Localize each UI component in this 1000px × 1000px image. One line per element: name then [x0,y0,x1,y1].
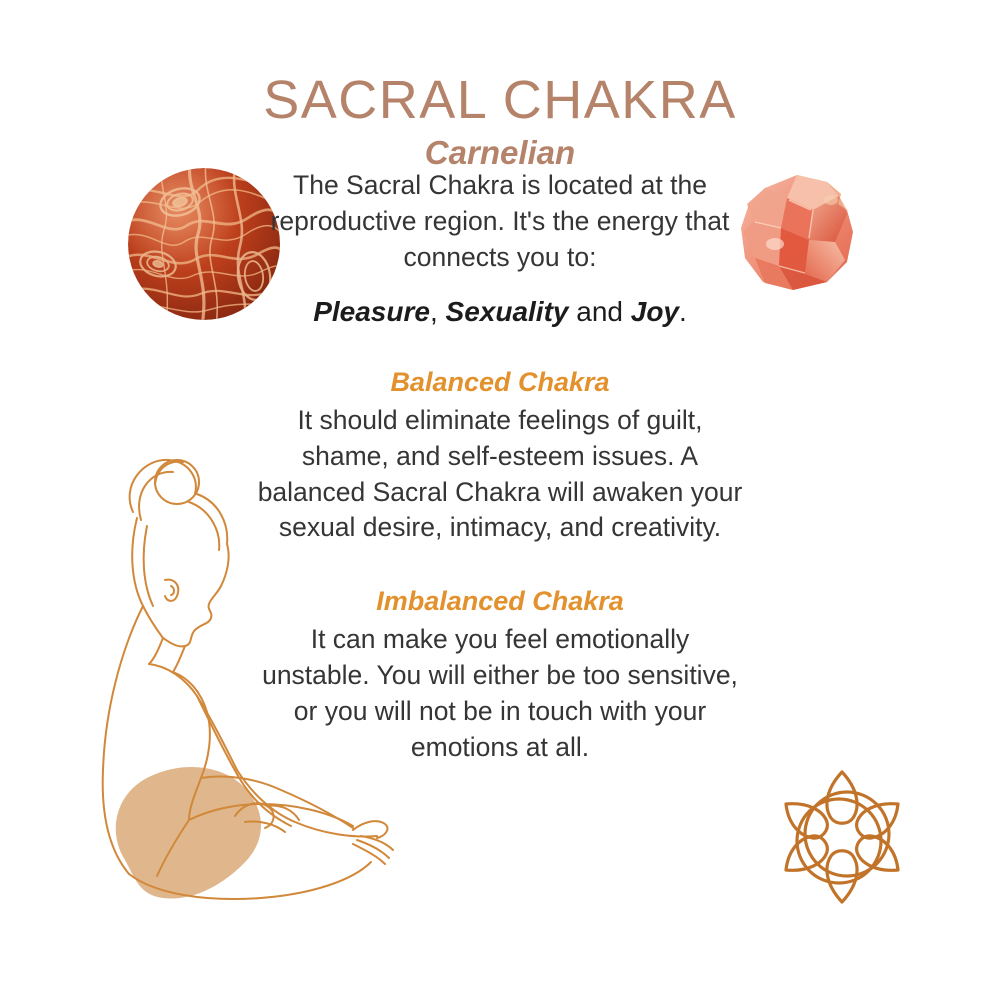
lotus-chakra-icon [765,762,920,912]
seated-yoga-figure-illustration [85,440,415,920]
seated-yoga-figure-icon [85,440,415,920]
keyword-joy: Joy [631,296,679,327]
keyword-conjunction: and [568,296,630,327]
keyword-pleasure: Pleasure [313,296,430,327]
carnelian-raw-stone-image [735,170,863,295]
poster-canvas: SACRAL CHAKRA Carnelian The Sacral Chakr… [0,0,1000,1000]
keyword-period: . [679,296,687,327]
svadhisthana-chakra-symbol [765,762,920,912]
intro-paragraph: The Sacral Chakra is located at the repr… [255,168,745,275]
carnelian-raw-stone-icon [735,170,863,295]
page-title: SACRAL CHAKRA [0,72,1000,129]
keyword-sexuality: Sexuality [446,296,569,327]
keywords-line: Pleasure, Sexuality and Joy. [255,293,745,331]
balanced-chakra-heading: Balanced Chakra [255,365,745,400]
page-subtitle: Carnelian [0,133,1000,173]
title-block: SACRAL CHAKRA Carnelian [0,72,1000,172]
keyword-separator: , [430,296,446,327]
